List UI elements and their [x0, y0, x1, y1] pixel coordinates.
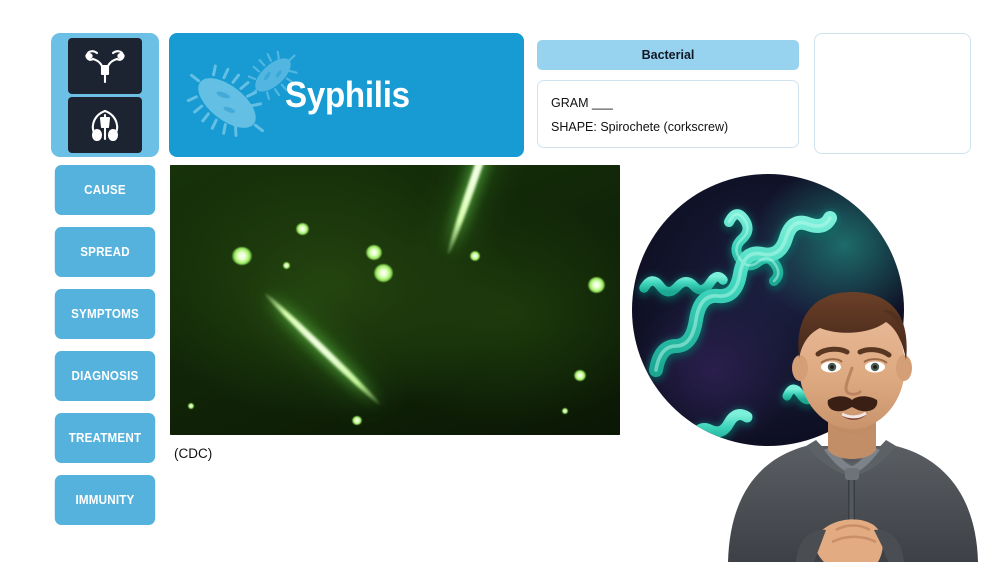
sidebar-item-label: SYMPTOMS — [71, 307, 139, 321]
sidebar-item-cause[interactable]: CAUSE — [55, 165, 155, 215]
sidebar-item-label: DIAGNOSIS — [72, 369, 139, 383]
sidebar-item-label: IMMUNITY — [76, 493, 135, 507]
slide-title-banner: Syphilis — [169, 33, 524, 157]
gram-stain-line: GRAM ___ — [551, 91, 798, 115]
sidebar-item-symptoms[interactable]: SYMPTOMS — [55, 289, 155, 339]
presenter-video — [700, 250, 1000, 562]
image-caption: (CDC) — [174, 446, 212, 461]
microbiology-info-box: GRAM ___ SHAPE: Spirochete (corkscrew) — [537, 80, 799, 148]
sidebar-item-diagnosis[interactable]: DIAGNOSIS — [55, 351, 155, 401]
micrograph-image — [170, 165, 620, 435]
slide-canvas: Syphilis Bacterial GRAM ___ SHAPE: Spiro… — [0, 0, 1000, 562]
notes-box[interactable] — [814, 33, 971, 154]
sidebar-item-label: CAUSE — [84, 183, 126, 197]
sidebar-item-immunity[interactable]: IMMUNITY — [55, 475, 155, 525]
shape-line: SHAPE: Spirochete (corkscrew) — [551, 115, 798, 139]
male-anatomy-icon — [68, 97, 142, 153]
sidebar-item-label: TREATMENT — [69, 431, 141, 445]
topic-sidebar: CAUSE SPREAD SYMPTOMS DIAGNOSIS TREATMEN… — [51, 165, 159, 537]
reproductive-anatomy-icon[interactable] — [51, 33, 159, 157]
sidebar-item-treatment[interactable]: TREATMENT — [55, 413, 155, 463]
classification-header-label: Bacterial — [642, 48, 695, 62]
sidebar-item-spread[interactable]: SPREAD — [55, 227, 155, 277]
female-anatomy-icon — [68, 38, 142, 94]
sidebar-item-label: SPREAD — [80, 245, 130, 259]
page-title: Syphilis — [285, 33, 505, 157]
classification-header: Bacterial — [537, 40, 799, 70]
